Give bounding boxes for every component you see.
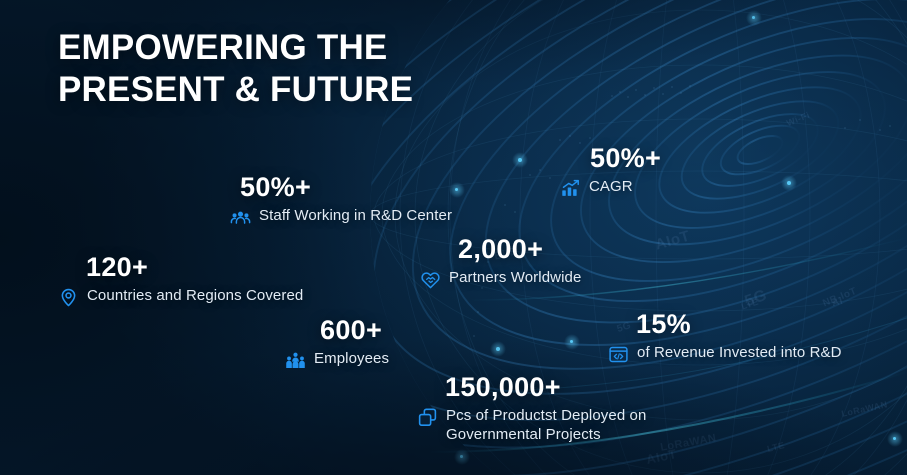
stacked-copy-icon [417, 407, 438, 428]
stat-staff-value: 50%+ [230, 172, 452, 202]
stat-staff: 50%+ Staff Working in R&D Center [230, 172, 452, 228]
stat-rd-investment-label: of Revenue Invested into R&D [637, 343, 842, 362]
headline-line-2: PRESENT & FUTURE [58, 69, 413, 111]
team-people-icon [285, 350, 306, 371]
stat-rd-investment: 15% of Revenue Invested into R&D [608, 309, 842, 365]
stat-employees: 600+ Employees [285, 315, 389, 371]
stat-partners-value: 2,000+ [420, 234, 581, 264]
page-title: EMPOWERING THE PRESENT & FUTURE [58, 27, 413, 111]
stat-employees-label: Employees [314, 349, 389, 368]
stat-cagr-label: CAGR [589, 177, 633, 196]
location-pin-icon [58, 287, 79, 308]
stat-countries: 120+ Countries and Regions Covered [58, 252, 303, 308]
code-window-icon [608, 344, 629, 365]
stat-countries-label: Countries and Regions Covered [87, 286, 303, 305]
stat-countries-value: 120+ [58, 252, 303, 282]
stat-products: 150,000+ Pcs of Productst Deployed on Go… [417, 372, 646, 444]
stat-products-value: 150,000+ [417, 372, 646, 402]
infographic-canvas: AIoT 5G NB-IoT AIoT LoRaWAN LTE LTE 5G A… [0, 0, 907, 475]
headline-line-1: EMPOWERING THE [58, 28, 387, 67]
bar-chart-growth-icon [560, 178, 581, 199]
stat-rd-investment-value: 15% [608, 309, 842, 339]
stat-staff-label: Staff Working in R&D Center [259, 206, 452, 225]
people-group-icon [230, 207, 251, 228]
stat-employees-value: 600+ [285, 315, 389, 345]
stat-cagr-value: 50%+ [560, 143, 661, 173]
stat-cagr: 50%+ CAGR [560, 143, 661, 199]
stat-partners: 2,000+ Partners Worldwide [420, 234, 581, 290]
stat-partners-label: Partners Worldwide [449, 268, 581, 287]
stat-products-label: Pcs of Productst Deployed on Governmenta… [446, 406, 646, 444]
handshake-heart-icon [420, 269, 441, 290]
